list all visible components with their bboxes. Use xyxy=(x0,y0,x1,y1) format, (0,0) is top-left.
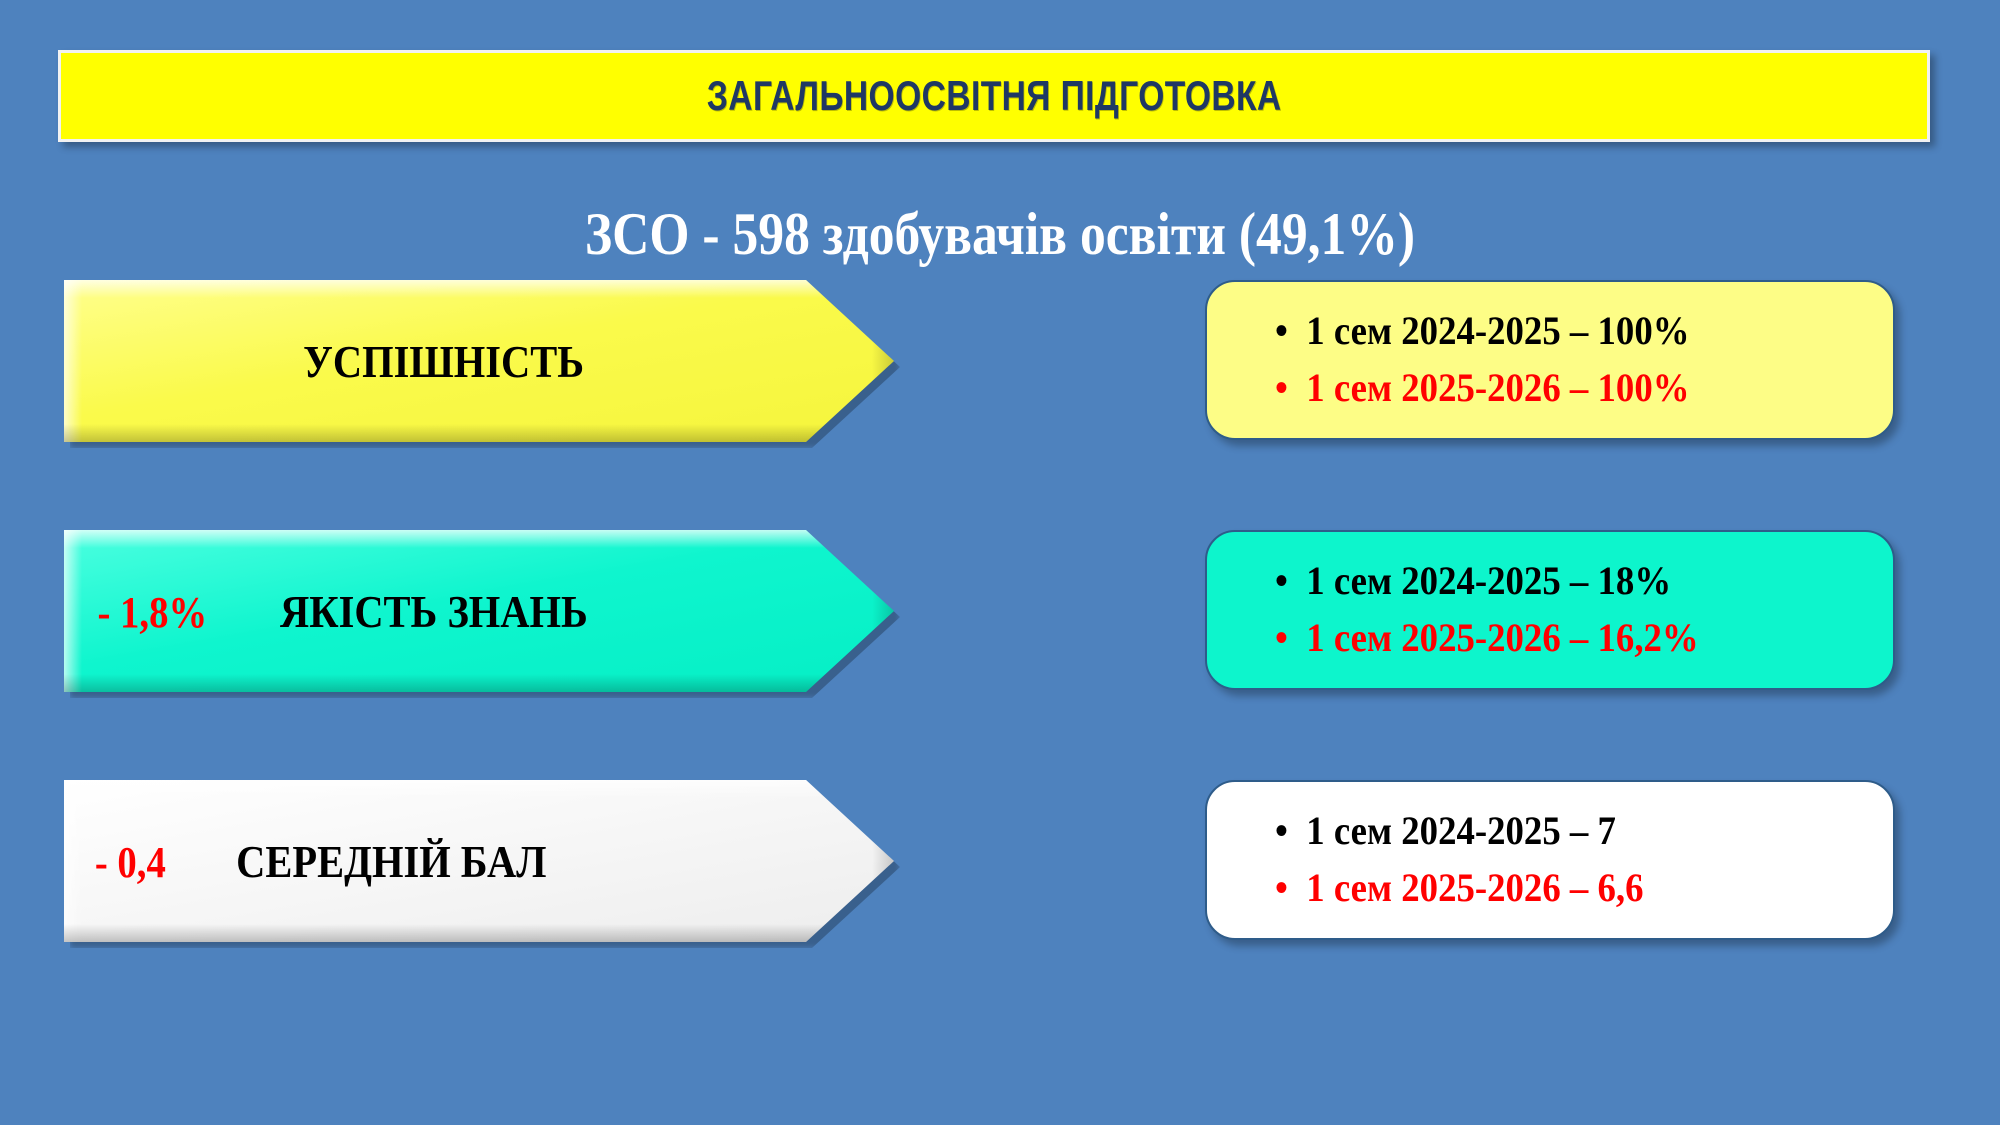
info-box-yakist-znan: •1 сем 2024-2025 – 18% •1 сем 2025-2026 … xyxy=(1205,530,1895,690)
info-line-text: 1 сем 2024-2025 – 18% xyxy=(1306,558,1671,603)
bullet-icon: • xyxy=(1275,360,1306,417)
info-line: •1 сем 2025-2026 – 100% xyxy=(1275,360,1844,417)
info-line-text: 1 сем 2024-2025 – 7 xyxy=(1306,808,1616,853)
info-line-text: 1 сем 2025-2026 – 6,6 xyxy=(1306,865,1643,910)
arrow-serednij-bal[interactable]: - 0,4СЕРЕДНІЙ БАЛ xyxy=(64,780,894,942)
info-box-serednij-bal: •1 сем 2024-2025 – 7 •1 сем 2025-2026 – … xyxy=(1205,780,1895,940)
info-line: •1 сем 2025-2026 – 16,2% xyxy=(1275,610,1844,667)
subtitle-text: ЗСО - 598 здобувачів освіти (49,1%) xyxy=(140,200,1860,269)
bullet-icon: • xyxy=(1275,803,1306,860)
arrow-name-3: СЕРЕДНІЙ БАЛ xyxy=(236,835,546,888)
arrow-label-2: - 1,8%ЯКІСТЬ ЗНАНЬ xyxy=(64,585,894,638)
info-line: •1 сем 2024-2025 – 100% xyxy=(1275,303,1844,360)
info-line-text: 1 сем 2024-2025 – 100% xyxy=(1306,308,1689,353)
arrow-label-1: УСПІШНІСТЬ xyxy=(64,335,894,388)
arrow-delta-2: - 1,8% xyxy=(97,587,207,638)
bullet-icon: • xyxy=(1275,303,1306,360)
page-title: ЗАГАЛЬНООСВІТНЯ ПІДГОТОВКА xyxy=(707,72,1282,120)
arrow-uspishnist[interactable]: УСПІШНІСТЬ xyxy=(64,280,894,442)
bullet-icon: • xyxy=(1275,610,1306,667)
info-line: •1 сем 2024-2025 – 7 xyxy=(1275,803,1844,860)
slide-canvas: ЗАГАЛЬНООСВІТНЯ ПІДГОТОВКА ЗСО - 598 здо… xyxy=(0,0,2000,1125)
arrow-name-1: УСПІШНІСТЬ xyxy=(304,335,585,388)
info-line-text: 1 сем 2025-2026 – 16,2% xyxy=(1306,615,1698,660)
info-line-text: 1 сем 2025-2026 – 100% xyxy=(1306,365,1689,410)
info-line: •1 сем 2024-2025 – 18% xyxy=(1275,553,1844,610)
info-box-uspishnist: •1 сем 2024-2025 – 100% •1 сем 2025-2026… xyxy=(1205,280,1895,440)
info-line: •1 сем 2025-2026 – 6,6 xyxy=(1275,860,1844,917)
arrow-delta-3: - 0,4 xyxy=(95,837,166,888)
bullet-icon: • xyxy=(1275,860,1306,917)
arrow-name-2: ЯКІСТЬ ЗНАНЬ xyxy=(280,585,588,638)
title-banner: ЗАГАЛЬНООСВІТНЯ ПІДГОТОВКА xyxy=(58,50,1930,142)
arrow-yakist-znan[interactable]: - 1,8%ЯКІСТЬ ЗНАНЬ xyxy=(64,530,894,692)
bullet-icon: • xyxy=(1275,553,1306,610)
arrow-label-3: - 0,4СЕРЕДНІЙ БАЛ xyxy=(64,835,894,888)
